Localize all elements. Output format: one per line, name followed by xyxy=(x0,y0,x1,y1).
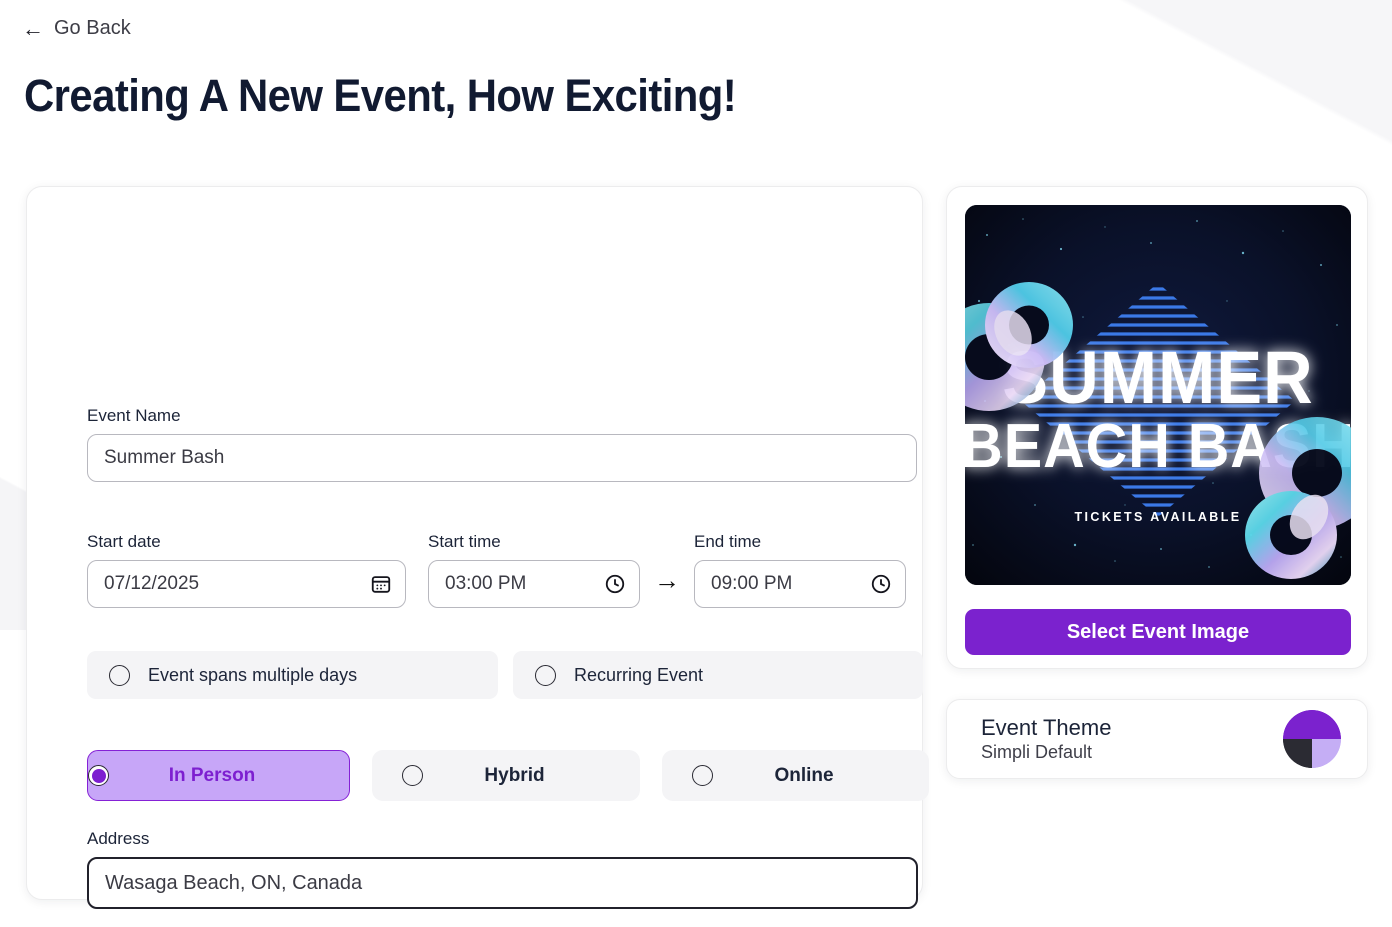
go-back-label: Go Back xyxy=(54,17,131,40)
event-image-card: SUMMER BEACH BASH TICKETS AVAILABLE xyxy=(946,186,1368,669)
format-option-label: In Person xyxy=(109,765,349,787)
radio-circle-icon xyxy=(535,665,556,686)
start-date-input[interactable] xyxy=(87,560,406,608)
end-time-group: End time xyxy=(694,532,906,608)
format-option-in-person[interactable]: In Person xyxy=(87,750,350,801)
start-time-group: Start time xyxy=(428,532,640,608)
theme-swatch-icon xyxy=(1283,710,1341,768)
select-event-image-button[interactable]: Select Event Image xyxy=(965,609,1351,655)
format-option-hybrid[interactable]: Hybrid xyxy=(372,750,640,801)
address-input[interactable] xyxy=(87,857,918,909)
address-label: Address xyxy=(87,829,918,849)
checkbox-multiple-days[interactable]: Event spans multiple days xyxy=(87,651,498,699)
checkbox-label: Event spans multiple days xyxy=(148,665,357,686)
format-option-online[interactable]: Online xyxy=(662,750,929,801)
event-options-row: Event spans multiple days Recurring Even… xyxy=(87,651,923,699)
format-option-label: Online xyxy=(713,765,929,787)
create-event-page: ← Go Back Creating A New Event, How Exci… xyxy=(0,0,1392,927)
event-form-card: Event Name Start date xyxy=(26,186,923,900)
format-option-label: Hybrid xyxy=(423,765,640,787)
svg-text:TICKETS AVAILABLE: TICKETS AVAILABLE xyxy=(1075,510,1242,524)
event-theme-title: Event Theme xyxy=(981,714,1111,742)
start-date-group: Start date xyxy=(87,532,406,608)
checkbox-label: Recurring Event xyxy=(574,665,703,686)
arrow-left-icon: ← xyxy=(22,18,44,40)
event-poster-image[interactable]: SUMMER BEACH BASH TICKETS AVAILABLE xyxy=(965,205,1351,585)
go-back-link[interactable]: ← Go Back xyxy=(22,17,131,40)
event-name-input[interactable] xyxy=(87,434,917,482)
start-date-label: Start date xyxy=(87,532,406,552)
radio-circle-icon xyxy=(692,765,713,786)
end-time-label: End time xyxy=(694,532,906,552)
event-theme-name: Simpli Default xyxy=(981,741,1111,764)
start-time-label: Start time xyxy=(428,532,640,552)
arrow-right-icon: → xyxy=(654,565,680,596)
event-name-group: Event Name xyxy=(87,406,917,482)
page-title: Creating A New Event, How Exciting! xyxy=(24,70,736,122)
end-time-input[interactable] xyxy=(694,560,906,608)
radio-selected-icon xyxy=(88,765,109,786)
event-theme-card[interactable]: Event Theme Simpli Default xyxy=(946,699,1368,779)
start-time-input[interactable] xyxy=(428,560,640,608)
event-format-row: In Person Hybrid Online xyxy=(87,750,929,801)
event-theme-text: Event Theme Simpli Default xyxy=(981,714,1111,765)
address-group: Address xyxy=(87,829,918,909)
checkbox-recurring-event[interactable]: Recurring Event xyxy=(513,651,923,699)
event-name-label: Event Name xyxy=(87,406,917,426)
radio-circle-icon xyxy=(402,765,423,786)
date-time-row: Start date xyxy=(87,532,906,608)
radio-circle-icon xyxy=(109,665,130,686)
